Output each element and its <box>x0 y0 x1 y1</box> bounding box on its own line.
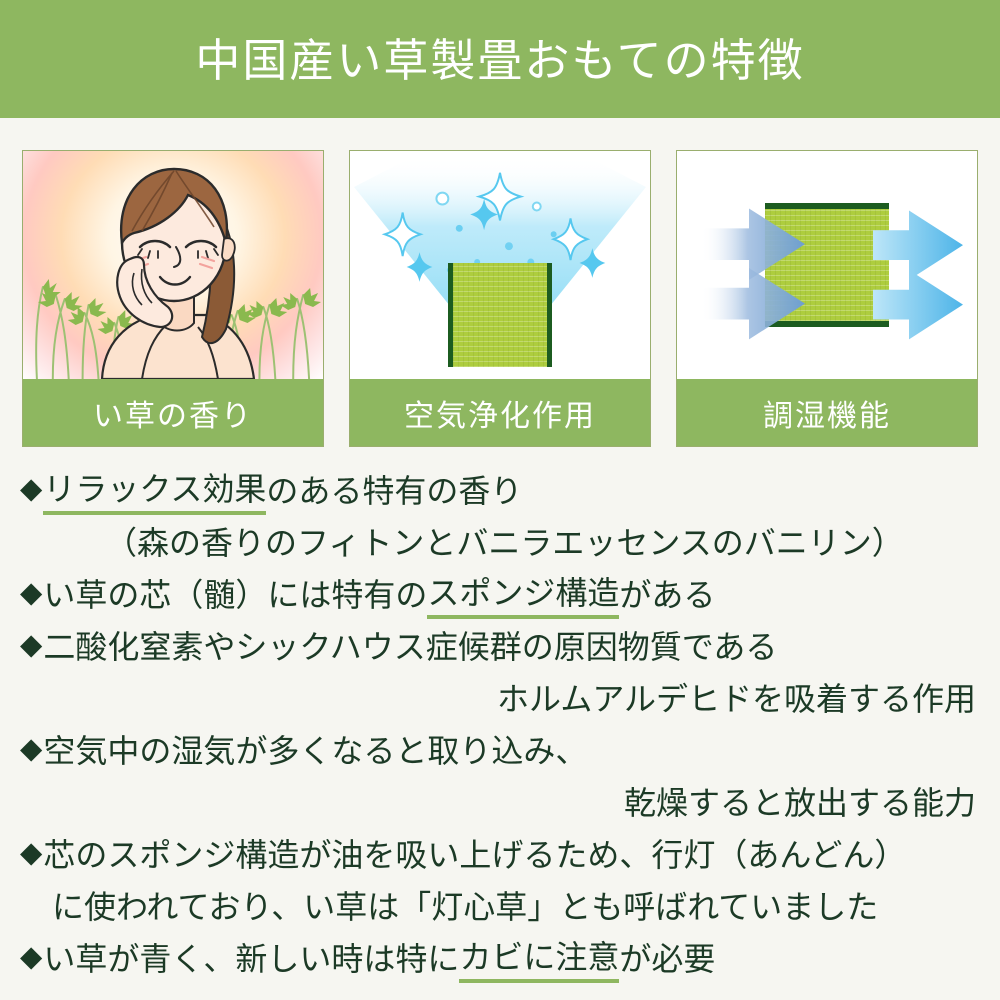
feature-card-air-purification[interactable]: 空気浄化作用 <box>349 150 651 447</box>
list-item: ◆ 芯のスポンジ構造が油を吸い上げるため、行灯（あんどん） <box>0 827 1000 879</box>
list-item-text: がある <box>619 570 715 616</box>
tatami-mat-icon <box>448 263 552 367</box>
diamond-bullet-icon: ◆ <box>20 839 42 868</box>
arrow-right-icon <box>677 151 977 379</box>
feature-card-humidity-control[interactable]: 調湿機能 <box>676 150 978 447</box>
card-art-humidity-control <box>677 151 977 379</box>
woman-face-icon <box>68 151 278 379</box>
list-item-text: 二酸化窒素やシックハウス症候群の原因物質である <box>43 622 777 668</box>
list-item: に使われており、い草は「灯心草」とも呼ばれていました <box>0 879 1000 931</box>
list-item-highlight: スポンジ構造 <box>427 568 619 619</box>
card-art-fragrance <box>23 151 323 379</box>
feature-list: ◆ リラックス効果 のある特有の香り （森の香りのフィトンとバニラエッセンスのバ… <box>0 463 1000 983</box>
diamond-bullet-icon: ◆ <box>20 475 42 504</box>
list-item-text: 芯のスポンジ構造が油を吸い上げるため、行灯（あんどん） <box>43 830 906 876</box>
list-item: （森の香りのフィトンとバニラエッセンスのバニリン） <box>0 515 1000 567</box>
list-item-text: 空気中の湿気が多くなると取り込み、 <box>43 726 587 772</box>
list-item: ◆ 二酸化窒素やシックハウス症候群の原因物質である <box>0 619 1000 671</box>
list-item-text: （森の香りのフィトンとバニラエッセンスのバニリン） <box>105 518 904 564</box>
page-title: 中国産い草製畳おもての特徴 <box>195 36 804 83</box>
card-label-humidity-control: 調湿機能 <box>677 379 977 446</box>
list-item-highlight: リラックス効果 <box>43 464 266 515</box>
card-label-air-purification: 空気浄化作用 <box>350 379 650 446</box>
list-item: ◆ い草の芯（髄）には特有の スポンジ構造 がある <box>0 567 1000 619</box>
list-item-text: い草が青く、新しい時は特に <box>43 934 459 980</box>
diamond-bullet-icon: ◆ <box>20 579 42 608</box>
feature-card-row: い草の香り <box>22 150 978 447</box>
page-header: 中国産い草製畳おもての特徴 <box>0 0 1000 118</box>
list-item: ◆ リラックス効果 のある特有の香り <box>0 463 1000 515</box>
list-item-text: 乾燥すると放出する能力 <box>624 778 976 824</box>
diamond-bullet-icon: ◆ <box>20 735 42 764</box>
list-item-highlight: カビに注意 <box>459 932 619 983</box>
list-item-text: に使われており、い草は「灯心草」とも呼ばれていました <box>52 882 878 928</box>
list-item-text: が必要 <box>619 934 715 980</box>
list-item: ホルムアルデヒドを吸着する作用 <box>0 671 1000 723</box>
diamond-bullet-icon: ◆ <box>20 943 42 972</box>
diamond-bullet-icon: ◆ <box>20 631 42 660</box>
list-item-text: ホルムアルデヒドを吸着する作用 <box>497 674 976 720</box>
list-item-text: い草の芯（髄）には特有の <box>43 570 427 616</box>
list-item-text: のある特有の香り <box>266 466 522 512</box>
card-label-fragrance: い草の香り <box>23 379 323 446</box>
list-item: ◆ 空気中の湿気が多くなると取り込み、 <box>0 723 1000 775</box>
list-item: ◆ い草が青く、新しい時は特に カビに注意 が必要 <box>0 931 1000 983</box>
feature-card-fragrance[interactable]: い草の香り <box>22 150 324 447</box>
card-art-air-purification <box>350 151 650 379</box>
list-item: 乾燥すると放出する能力 <box>0 775 1000 827</box>
